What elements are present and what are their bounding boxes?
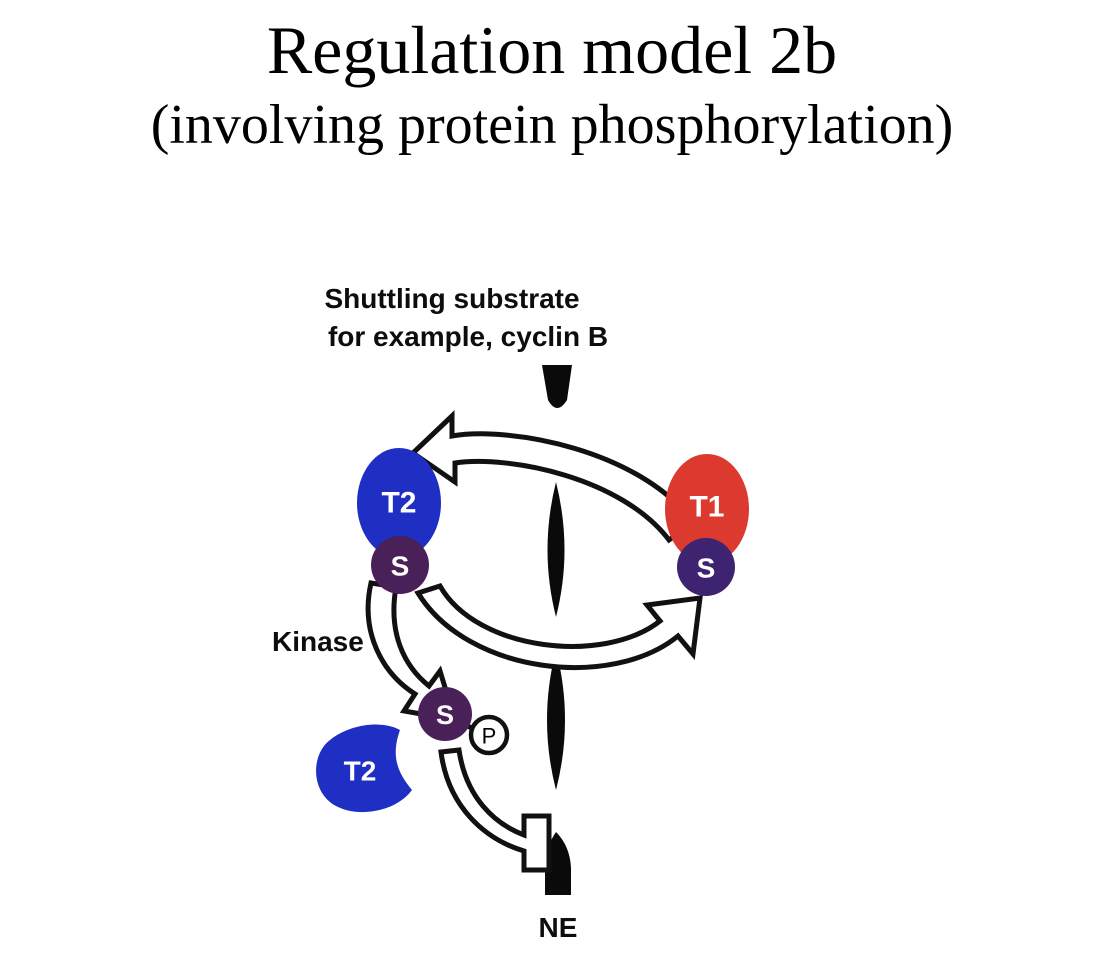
diagram-container: T2 S T1 S S P bbox=[0, 250, 1104, 950]
s-right-label: S bbox=[697, 553, 716, 584]
ne-top-segment bbox=[542, 365, 572, 408]
regulation-model-diagram: T2 S T1 S S P bbox=[0, 250, 1104, 950]
arrow-inhibition bbox=[441, 750, 549, 870]
t2-label: T2 bbox=[381, 487, 416, 520]
node-substrate-s-left[interactable]: S bbox=[371, 536, 429, 594]
page-title: Regulation model 2b bbox=[0, 8, 1104, 92]
substrate-label-line1: Shuttling substrate bbox=[324, 283, 579, 314]
substrate-label-line2: for example, cyclin B bbox=[328, 321, 608, 352]
s-left-label: S bbox=[391, 551, 410, 582]
t1-label: T1 bbox=[689, 491, 724, 524]
title-block: Regulation model 2b (involving protein p… bbox=[0, 8, 1104, 158]
phosphate-label: P bbox=[482, 724, 497, 749]
page-subtitle: (involving protein phosphorylation) bbox=[0, 92, 1104, 158]
free-t2-label: T2 bbox=[344, 756, 377, 787]
node-phosphate-group[interactable]: P bbox=[471, 717, 507, 753]
node-substrate-s-right[interactable]: S bbox=[677, 538, 735, 596]
node-free-transporter-t2[interactable]: T2 bbox=[316, 725, 412, 813]
ne-lower-segment bbox=[547, 650, 565, 790]
s-phospho-label: S bbox=[436, 700, 454, 730]
slide-canvas: Regulation model 2b (involving protein p… bbox=[0, 0, 1104, 970]
kinase-label: Kinase bbox=[272, 626, 364, 657]
nuclear-envelope-label: NE bbox=[539, 912, 578, 943]
ne-middle-segment bbox=[548, 482, 565, 617]
